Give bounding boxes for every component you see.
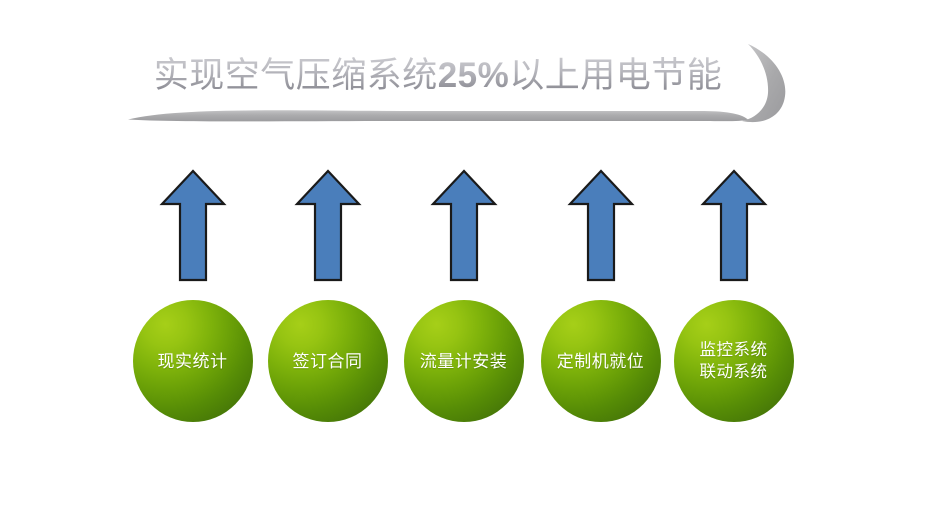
up-arrow-icon <box>158 168 228 283</box>
step-label: 监控系统 联动系统 <box>700 339 768 383</box>
banner-underline <box>128 110 748 121</box>
slide-canvas: 实现空气压缩系统25%以上用电节能 现实统计 签订合同 <box>0 0 945 529</box>
step-label: 定制机就位 <box>557 351 645 372</box>
step-label: 签订合同 <box>293 351 363 372</box>
process-steps-row: 现实统计 签订合同 流量计安装 <box>0 160 945 435</box>
title-suffix: 以上用电节能 <box>509 56 722 95</box>
banner-arc-cap <box>742 44 785 122</box>
step-circle[interactable]: 定制机就位 <box>541 300 661 422</box>
title-banner: 实现空气压缩系统25%以上用电节能 <box>0 0 945 150</box>
step-circle[interactable]: 监控系统 联动系统 <box>674 300 794 422</box>
process-step-3[interactable]: 流量计安装 <box>396 160 531 435</box>
page-title: 实现空气压缩系统25%以上用电节能 <box>128 45 748 107</box>
step-circle[interactable]: 流量计安装 <box>404 300 524 422</box>
up-arrow-icon <box>566 168 636 283</box>
up-arrow-icon <box>699 168 769 283</box>
step-circle[interactable]: 现实统计 <box>133 300 253 422</box>
up-arrow-icon <box>293 168 363 283</box>
process-step-5[interactable]: 监控系统 联动系统 <box>666 160 801 435</box>
process-step-2[interactable]: 签订合同 <box>260 160 395 435</box>
step-label: 流量计安装 <box>420 351 508 372</box>
step-label: 现实统计 <box>158 351 228 372</box>
step-circle[interactable]: 签订合同 <box>268 300 388 422</box>
title-prefix: 实现空气压缩系统 <box>154 56 438 95</box>
process-step-4[interactable]: 定制机就位 <box>533 160 668 435</box>
process-step-1[interactable]: 现实统计 <box>125 160 260 435</box>
up-arrow-icon <box>429 168 499 283</box>
title-accent-percent: 25% <box>438 56 510 95</box>
